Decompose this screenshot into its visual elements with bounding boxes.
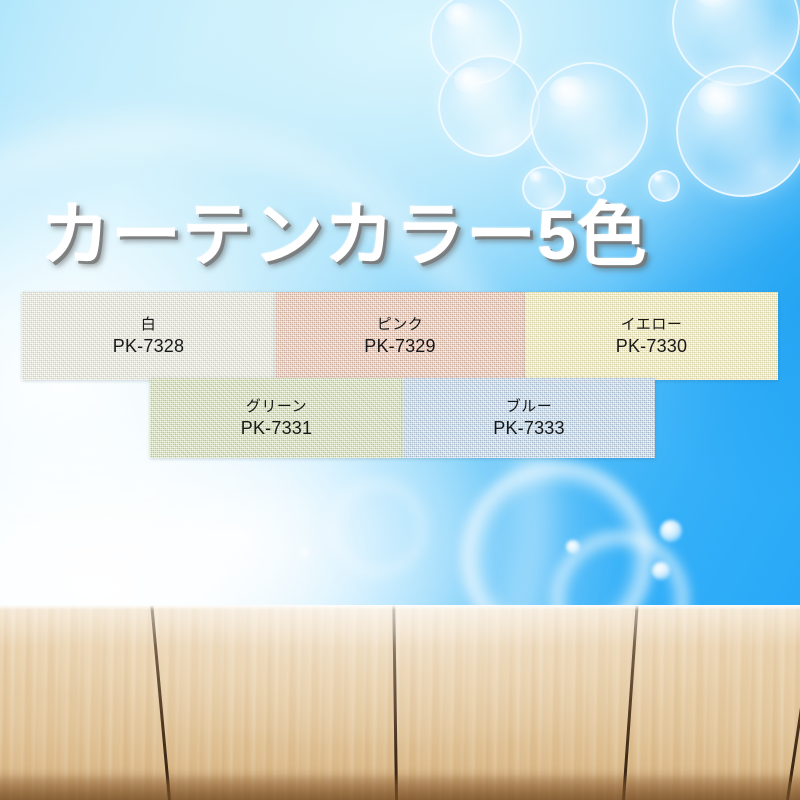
bubble-icon bbox=[586, 176, 606, 196]
swatch-name: 白 bbox=[141, 315, 157, 335]
wood-front-edge bbox=[0, 774, 800, 800]
swatch-code: PK-7330 bbox=[616, 335, 687, 358]
color-swatch-row-top: 白 PK-7328 ピンク PK-7329 イエロー PK-7330 bbox=[22, 292, 778, 380]
bubble-icon bbox=[438, 55, 540, 157]
color-swatch-yellow[interactable]: イエロー PK-7330 bbox=[525, 292, 778, 380]
bubble-dot-icon bbox=[300, 548, 310, 558]
product-color-banner: カーテンカラー5色 白 PK-7328 ピンク PK-7329 イエロー PK-… bbox=[0, 0, 800, 800]
color-swatch-blue[interactable]: ブルー PK-7333 bbox=[403, 378, 655, 458]
bubble-glow-icon bbox=[330, 480, 426, 576]
swatch-code: PK-7328 bbox=[113, 335, 184, 358]
swatch-code: PK-7333 bbox=[493, 417, 564, 440]
bubble-dot-icon bbox=[660, 520, 682, 542]
bubble-icon bbox=[676, 65, 800, 197]
color-swatch-shiro[interactable]: 白 PK-7328 bbox=[22, 292, 275, 380]
bubble-dot-icon bbox=[566, 540, 580, 554]
color-swatch-pink[interactable]: ピンク PK-7329 bbox=[275, 292, 525, 380]
swatch-name: ピンク bbox=[377, 315, 424, 335]
bubble-icon bbox=[530, 62, 648, 180]
bubble-dot-icon bbox=[652, 562, 670, 580]
wood-table-surface bbox=[0, 605, 800, 800]
color-swatch-green[interactable]: グリーン PK-7331 bbox=[150, 378, 403, 458]
swatch-name: グリーン bbox=[246, 397, 307, 417]
swatch-code: PK-7329 bbox=[364, 335, 435, 358]
wood-sheen bbox=[0, 605, 800, 800]
swatch-name: イエロー bbox=[621, 315, 683, 335]
page-title: カーテンカラー5色 bbox=[40, 196, 770, 274]
wood-top-highlight bbox=[0, 605, 800, 610]
swatch-name: ブルー bbox=[506, 397, 553, 417]
swatch-code: PK-7331 bbox=[241, 417, 312, 440]
color-swatch-row-bottom: グリーン PK-7331 ブルー PK-7333 bbox=[150, 378, 655, 458]
